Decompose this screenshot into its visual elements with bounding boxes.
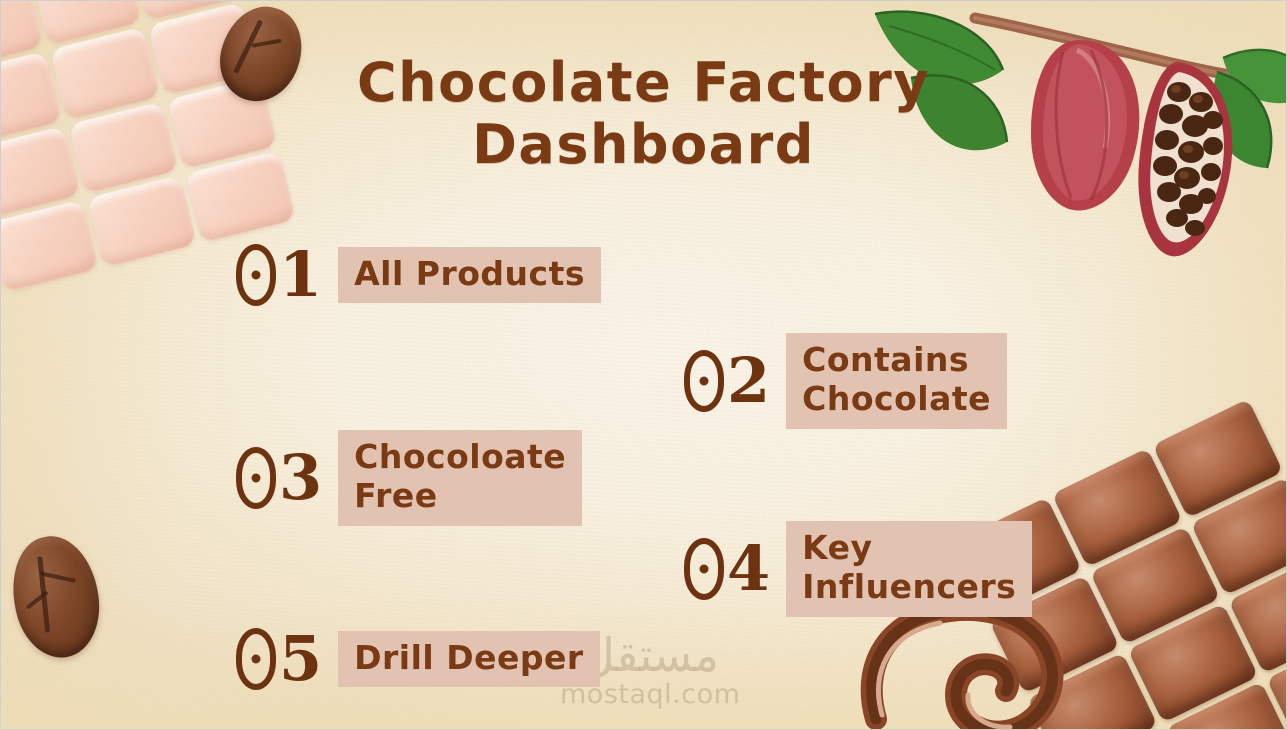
menu-label-all-products[interactable]: All Products (338, 247, 601, 304)
menu-label-contains-chocolate[interactable]: Contains Chocolate (786, 333, 1007, 429)
menu-label-chocolate-free[interactable]: Chocoloate Free (338, 430, 582, 526)
menu-label-key-influencers[interactable]: Key Influencers (786, 521, 1032, 617)
menu-number-01: 1 (236, 244, 322, 306)
menu-item-key-influencers[interactable]: 4 Key Influencers (684, 521, 1032, 617)
page-title-line-2: Dashboard (0, 114, 1287, 176)
menu-number-04: 4 (684, 538, 770, 600)
zero-dot-glyph (236, 628, 276, 690)
menu-item-drill-deeper[interactable]: 5 Drill Deeper (236, 628, 600, 690)
menu-item-chocolate-free[interactable]: 3 Chocoloate Free (236, 430, 582, 526)
zero-dot-glyph (236, 244, 276, 306)
menu-item-all-products[interactable]: 1 All Products (236, 244, 601, 306)
zero-dot-glyph (236, 447, 276, 509)
page-title: Chocolate Factory Dashboard (0, 52, 1287, 176)
zero-dot-glyph (684, 538, 724, 600)
cocoa-bean-icon (2, 529, 110, 666)
menu-number-05: 5 (236, 628, 322, 690)
menu-number-03: 3 (236, 447, 322, 509)
zero-dot-glyph (684, 350, 724, 412)
menu-item-contains-chocolate[interactable]: 2 Contains Chocolate (684, 333, 1007, 429)
page-title-line-1: Chocolate Factory (357, 51, 930, 114)
chocolate-curl-icon (860, 599, 1070, 730)
dashboard-cover-slide: Chocolate Factory Dashboard 1 All Produc… (0, 0, 1287, 730)
menu-label-drill-deeper[interactable]: Drill Deeper (338, 631, 600, 688)
menu-number-02: 2 (684, 350, 770, 412)
